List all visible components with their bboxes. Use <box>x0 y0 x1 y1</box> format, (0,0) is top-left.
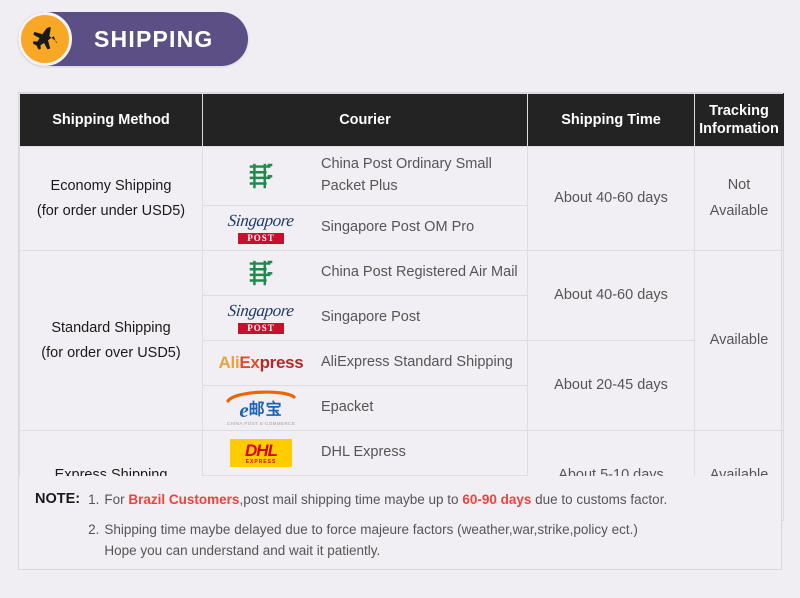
courier-cell: China Post Registered Air Mail <box>203 251 528 296</box>
tracking-status-economy: Not Available <box>695 147 784 251</box>
note-1-part3: due to customs factor. <box>531 492 667 507</box>
column-header-shipping-time: Shipping Time <box>528 94 695 147</box>
shipping-header-badge: SHIPPING <box>18 12 248 66</box>
note-section: NOTE: 1. For Brazil Customers,post mail … <box>18 476 782 570</box>
shipping-method-standard: Standard Shipping (for order over USD5) <box>20 251 203 431</box>
shipping-table-container: Shipping Method Courier Shipping Time Tr… <box>18 92 782 522</box>
note-label: NOTE: <box>35 490 88 507</box>
note-item-1: 1. For Brazil Customers,post mail shippi… <box>88 490 667 511</box>
singapore-post-box: POST <box>238 323 284 334</box>
shipping-table: Shipping Method Courier Shipping Time Tr… <box>19 93 784 521</box>
airplane-icon <box>18 12 72 66</box>
tracking-header-line1: Tracking <box>709 103 769 119</box>
china-post-logo <box>209 160 313 192</box>
shipping-time-cell: About 40-60 days <box>528 251 695 341</box>
note-1-highlight-brazil: Brazil Customers <box>128 492 239 507</box>
note-number: 1. <box>88 490 104 511</box>
column-header-courier: Courier <box>203 94 528 147</box>
courier-cell: Singapore POST Singapore Post OM Pro <box>203 206 528 251</box>
courier-name: AliExpress Standard Shipping <box>313 352 513 374</box>
courier-name: Singapore Post <box>313 307 420 329</box>
note-2-line2: Hope you can understand and wait it pati… <box>104 543 380 558</box>
epacket-cn: 邮宝 <box>249 402 283 419</box>
courier-cell: Singapore POST Singapore Post <box>203 296 528 341</box>
table-header-row: Shipping Method Courier Shipping Time Tr… <box>20 94 784 147</box>
method-line1: Standard Shipping <box>51 320 170 336</box>
singapore-post-logo: Singapore POST <box>209 212 313 245</box>
note-number: 2. <box>88 520 104 562</box>
note-1-part2: ,post mail shipping time maybe up to <box>239 492 462 507</box>
tracking-line2: Available <box>710 203 769 219</box>
courier-name: Epacket <box>313 397 373 419</box>
table-row: Economy Shipping (for order under USD5) <box>20 147 784 206</box>
note-2-line1: Shipping time maybe delayed due to force… <box>104 522 638 537</box>
singapore-post-script: Singapore <box>227 302 294 319</box>
aliexpress-part2: Ex <box>239 353 259 372</box>
epacket-subtitle: CHINA POST E-COMMERCE <box>224 422 298 427</box>
method-line2: (for order over USD5) <box>41 345 180 361</box>
aliexpress-part1: Ali <box>219 353 240 372</box>
page-title: SHIPPING <box>94 26 214 53</box>
shipping-time-cell: About 20-45 days <box>528 341 695 431</box>
table-row: Express Shipping DHL EXPRESS DHL Express… <box>20 431 784 476</box>
tracking-status-standard: Available <box>695 251 784 431</box>
singapore-post-logo: Singapore POST <box>209 302 313 335</box>
method-line2: (for order under USD5) <box>37 203 185 219</box>
courier-name: China Post Ordinary Small Packet Plus <box>313 154 527 198</box>
epacket-e: e <box>239 398 248 422</box>
note-text-1: For Brazil Customers,post mail shipping … <box>104 490 667 511</box>
shipping-time-cell: About 40-60 days <box>528 147 695 251</box>
courier-name: China Post Registered Air Mail <box>313 262 518 284</box>
note-item-2: 2. Shipping time maybe delayed due to fo… <box>88 520 667 562</box>
courier-cell: DHL EXPRESS DHL Express <box>203 431 528 476</box>
courier-cell: China Post Ordinary Small Packet Plus <box>203 147 528 206</box>
column-header-shipping-method: Shipping Method <box>20 94 203 147</box>
column-header-tracking-information: Tracking Information <box>695 94 784 147</box>
method-line1: Economy Shipping <box>51 178 172 194</box>
epacket-logo: e邮宝 CHINA POST E-COMMERCE <box>209 389 313 427</box>
courier-cell: AliExpress AliExpress Standard Shipping <box>203 341 528 386</box>
note-1-part1: For <box>104 492 128 507</box>
courier-name: Singapore Post OM Pro <box>313 217 474 239</box>
note-list: 1. For Brazil Customers,post mail shippi… <box>88 490 667 571</box>
courier-cell: e邮宝 CHINA POST E-COMMERCE Epacket <box>203 386 528 431</box>
dhl-text: DHL <box>235 442 287 459</box>
tracking-header-line2: Information <box>699 121 779 137</box>
china-post-logo <box>209 257 313 289</box>
tracking-line1: Not <box>728 177 751 193</box>
note-1-highlight-days: 60-90 days <box>462 492 531 507</box>
singapore-post-box: POST <box>238 233 284 244</box>
dhl-logo: DHL EXPRESS <box>209 439 313 467</box>
courier-name: DHL Express <box>313 442 406 464</box>
dhl-subtitle: EXPRESS <box>235 460 287 465</box>
shipping-method-economy: Economy Shipping (for order under USD5) <box>20 147 203 251</box>
aliexpress-part3: press <box>260 353 304 372</box>
table-row: Standard Shipping (for order over USD5) <box>20 251 784 296</box>
note-text-2: Shipping time maybe delayed due to force… <box>104 520 638 562</box>
aliexpress-logo: AliExpress <box>209 353 313 373</box>
singapore-post-script: Singapore <box>227 212 294 229</box>
